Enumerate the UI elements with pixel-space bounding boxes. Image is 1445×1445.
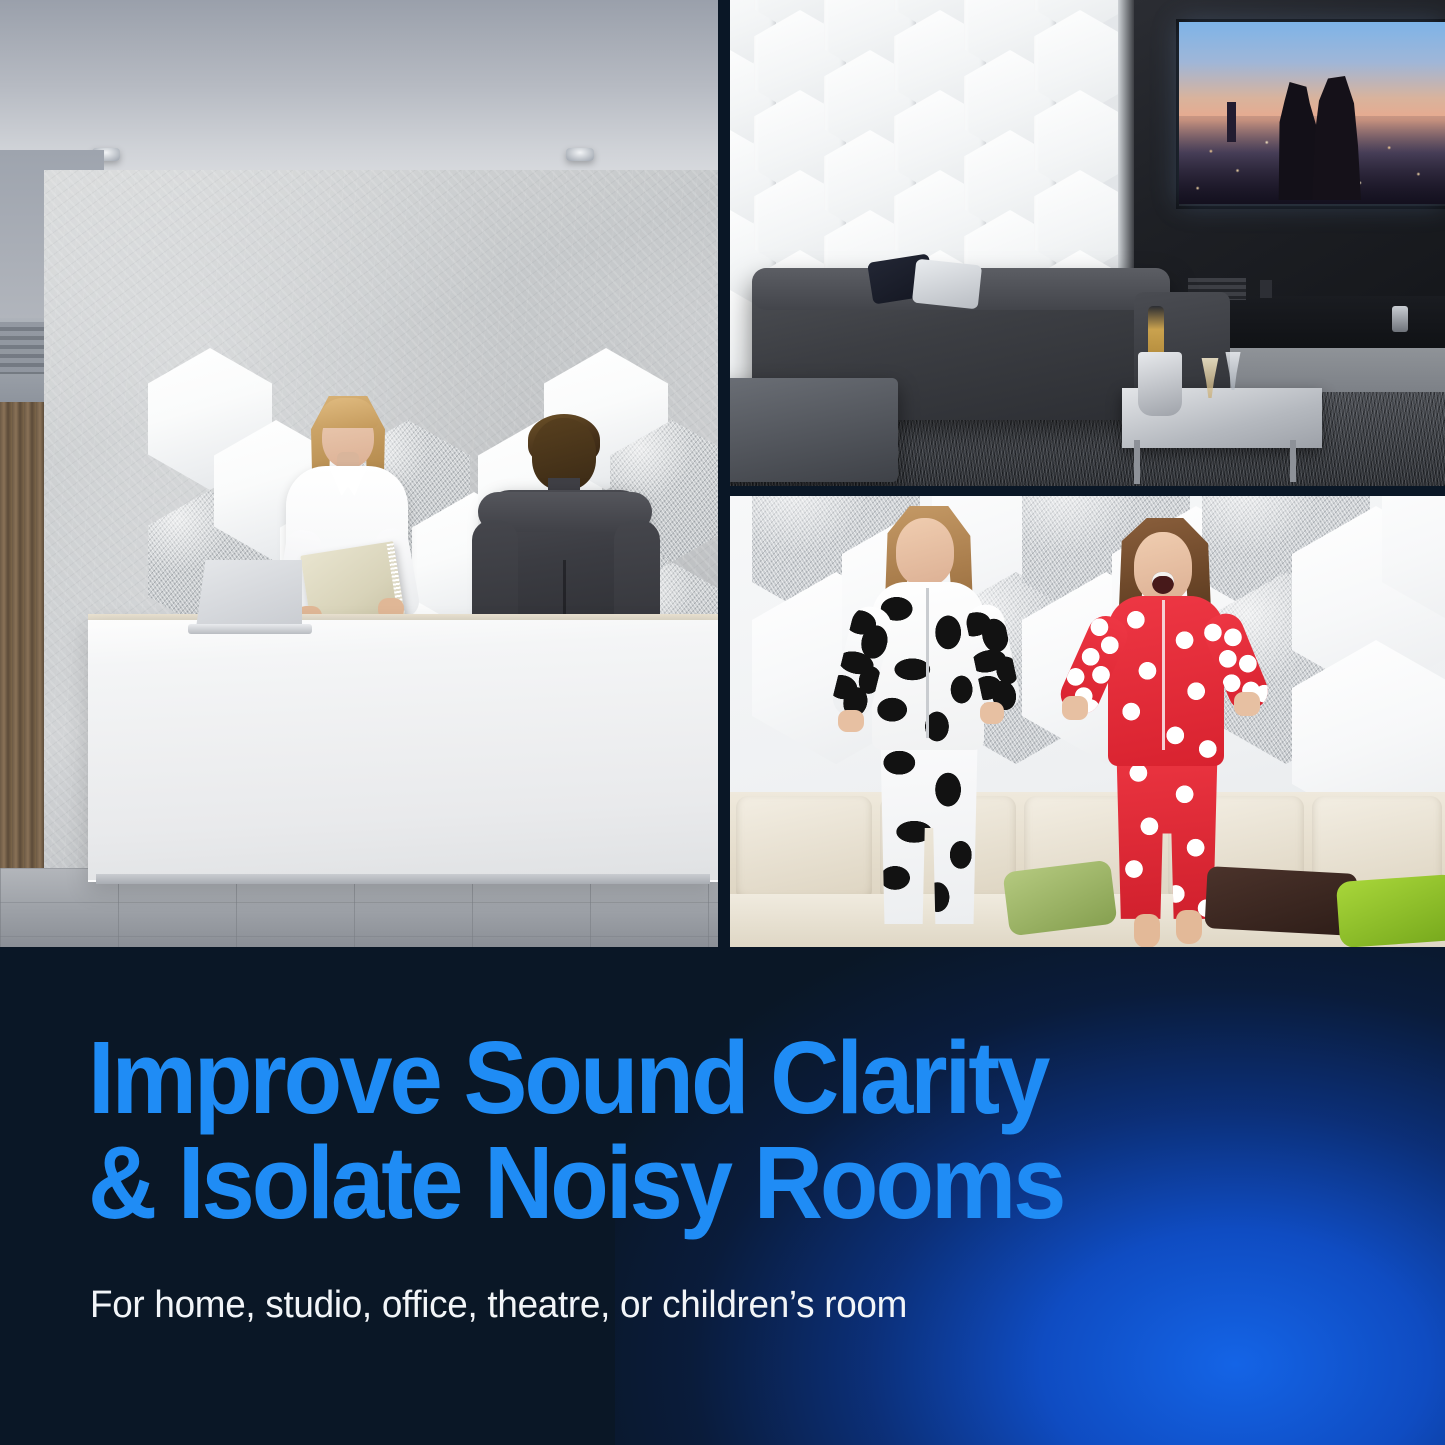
child-2-hand-left	[1062, 696, 1088, 720]
photo-collage	[0, 0, 1445, 947]
laptop-base	[188, 624, 312, 634]
headline: Improve Sound Clarity & Isolate Noisy Ro…	[88, 1029, 1251, 1233]
table-leg	[1134, 440, 1140, 484]
reception-desk-base	[96, 874, 710, 884]
city-tower	[1227, 102, 1236, 142]
child-2-zipper	[1162, 600, 1165, 750]
table-leg	[1290, 440, 1296, 482]
sofa-cushion	[736, 796, 872, 902]
silhouette-man	[1277, 82, 1319, 200]
reception-desk	[88, 620, 718, 882]
child-1-hand-right	[980, 702, 1004, 724]
speaker-icon	[1260, 280, 1272, 298]
child-2-mouth	[1152, 572, 1174, 594]
headline-line-2: & Isolate Noisy Rooms	[88, 1134, 1251, 1233]
silhouette-woman	[1311, 76, 1361, 200]
lime-pillow	[1336, 874, 1445, 947]
child-1-head	[896, 518, 954, 586]
child-2-foot-right	[1176, 910, 1202, 944]
office-ceiling	[0, 0, 718, 190]
child-1-hand-left	[838, 710, 864, 732]
floor-lamp-icon	[1392, 306, 1408, 332]
ice-bucket-icon	[1138, 352, 1182, 416]
brown-pillow	[1204, 866, 1357, 936]
child-2-hand-right	[1234, 692, 1260, 716]
photo-home-theater	[730, 0, 1445, 486]
ottoman	[730, 378, 898, 482]
laptop-icon	[196, 560, 302, 628]
product-banner: Improve Sound Clarity & Isolate Noisy Ro…	[0, 0, 1445, 1445]
couple-silhouette	[1277, 68, 1363, 200]
green-pillow	[1003, 860, 1118, 937]
headline-line-1: Improve Sound Clarity	[88, 1029, 1251, 1128]
child-2-foot-left	[1134, 914, 1160, 947]
headline-band: Improve Sound Clarity & Isolate Noisy Ro…	[0, 947, 1445, 1445]
office-vent	[0, 322, 46, 374]
subheadline: For home, studio, office, theatre, or ch…	[90, 1284, 907, 1327]
projector-screen	[1179, 22, 1445, 204]
photo-children-room	[730, 496, 1445, 947]
photo-office-reception	[0, 0, 718, 947]
sofa-cushion-light	[912, 259, 982, 310]
ceiling-light-icon	[566, 148, 594, 161]
child-1-zipper	[926, 588, 929, 738]
